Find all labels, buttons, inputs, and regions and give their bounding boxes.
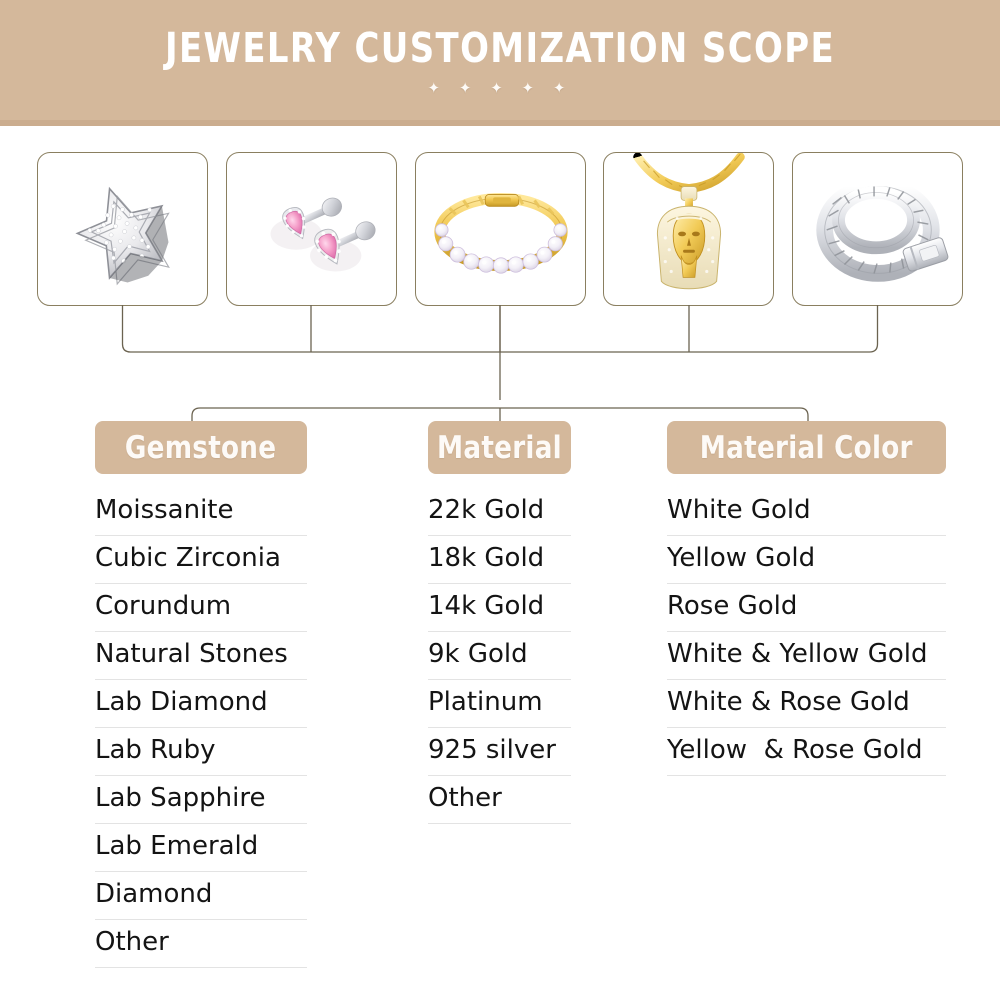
column-header-material-color[interactable]: Material Color — [667, 421, 946, 474]
list-item[interactable]: Natural Stones — [95, 632, 307, 680]
column-material: Material 22k Gold 18k Gold 14k Gold 9k G… — [428, 421, 571, 824]
list-item[interactable]: Other — [428, 776, 571, 824]
product-card-stud-earrings[interactable] — [226, 152, 397, 306]
option-list-gemstone: Moissanite Cubic Zirconia Corundum Natur… — [95, 488, 307, 968]
column-header-material-label: Material — [437, 430, 562, 466]
page-header-banner: JEWELRY CUSTOMIZATION SCOPE ✦ ✦ ✦ ✦ ✦ — [0, 0, 1000, 126]
product-card-jesus-head-pendant[interactable] — [603, 152, 774, 306]
option-list-material-color: White Gold Yellow Gold Rose Gold White &… — [667, 488, 946, 776]
column-header-gemstone[interactable]: Gemstone — [95, 421, 307, 474]
list-item[interactable]: Lab Ruby — [95, 728, 307, 776]
stud-earrings-icon — [227, 153, 396, 305]
list-item[interactable]: 925 silver — [428, 728, 571, 776]
jesus-head-pendant-icon — [604, 153, 773, 305]
list-item[interactable]: 18k Gold — [428, 536, 571, 584]
column-header-gemstone-label: Gemstone — [125, 430, 276, 466]
product-card-cuban-link-chain[interactable] — [792, 152, 963, 306]
list-item[interactable]: Yellow Gold — [667, 536, 946, 584]
list-item[interactable]: Rose Gold — [667, 584, 946, 632]
list-item[interactable]: White & Rose Gold — [667, 680, 946, 728]
list-item[interactable]: Cubic Zirconia — [95, 536, 307, 584]
list-item[interactable]: Moissanite — [95, 488, 307, 536]
product-card-star-pendant[interactable] — [37, 152, 208, 306]
cuban-link-chain-icon — [793, 153, 962, 305]
connector-card-5 — [870, 305, 878, 352]
list-item[interactable]: 9k Gold — [428, 632, 571, 680]
list-item[interactable]: Diamond — [95, 872, 307, 920]
list-item[interactable]: Lab Diamond — [95, 680, 307, 728]
list-item[interactable]: Yellow & Rose Gold — [667, 728, 946, 776]
list-item[interactable]: Lab Emerald — [95, 824, 307, 872]
list-item[interactable]: 22k Gold — [428, 488, 571, 536]
list-item[interactable]: White & Yellow Gold — [667, 632, 946, 680]
column-header-material-color-label: Material Color — [700, 430, 913, 466]
product-card-tennis-bracelet[interactable] — [415, 152, 586, 306]
list-item[interactable]: 14k Gold — [428, 584, 571, 632]
column-gemstone: Gemstone Moissanite Cubic Zirconia Corun… — [95, 421, 307, 968]
list-item[interactable]: Other — [95, 920, 307, 968]
star-pendant-icon — [38, 153, 207, 305]
column-material-color: Material Color White Gold Yellow Gold Ro… — [667, 421, 946, 776]
page-title: JEWELRY CUSTOMIZATION SCOPE — [40, 24, 960, 72]
list-item[interactable]: Corundum — [95, 584, 307, 632]
list-item[interactable]: Platinum — [428, 680, 571, 728]
column-header-material[interactable]: Material — [428, 421, 571, 474]
connector-diagram — [0, 300, 1000, 430]
product-card-row — [37, 152, 963, 306]
connector-card-1 — [123, 305, 131, 352]
category-columns: Gemstone Moissanite Cubic Zirconia Corun… — [0, 421, 1000, 991]
star-rating-icons: ✦ ✦ ✦ ✦ ✦ — [0, 78, 1000, 98]
list-item[interactable]: Lab Sapphire — [95, 776, 307, 824]
option-list-material: 22k Gold 18k Gold 14k Gold 9k Gold Plati… — [428, 488, 571, 824]
tennis-bracelet-icon — [416, 153, 585, 305]
list-item[interactable]: White Gold — [667, 488, 946, 536]
